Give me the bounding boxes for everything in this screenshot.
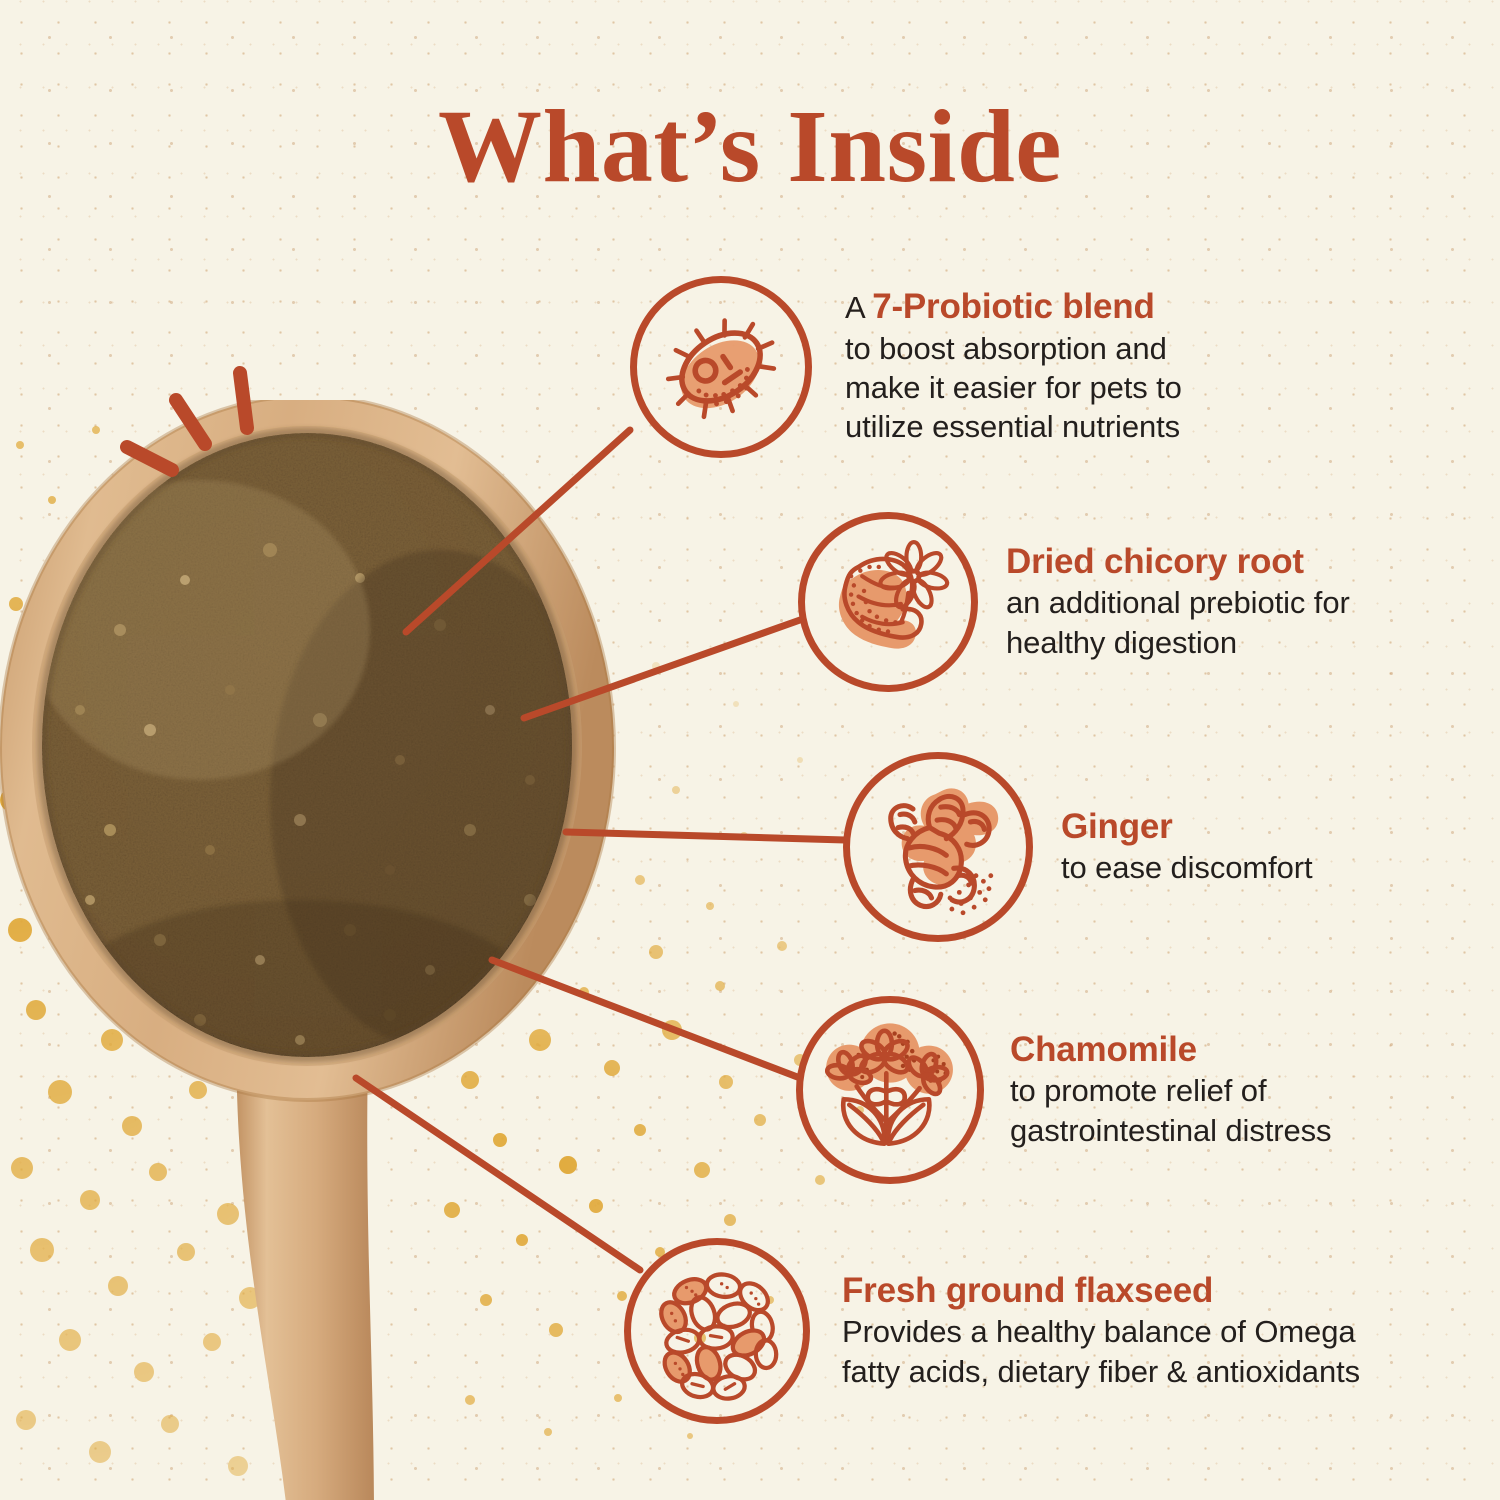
callout-body-chamomile: to promote relief of gastrointestinal di…	[1010, 1071, 1331, 1150]
callout-body-ginger: to ease discomfort	[1061, 848, 1312, 887]
callout-body-probiotic: to boost absorption and make it easier f…	[845, 329, 1182, 447]
flaxseed-icon	[624, 1238, 810, 1424]
callout-ginger[interactable]: Ginger to ease discomfort	[843, 752, 1312, 942]
ginger-root-icon	[843, 752, 1033, 942]
callout-title-chamomile: Chamomile	[1010, 1030, 1331, 1069]
callout-text-flaxseed: Fresh ground flaxseed Provides a healthy…	[842, 1271, 1360, 1391]
callout-body-flaxseed: Provides a healthy balance of Omega fatt…	[842, 1312, 1360, 1391]
infographic-canvas: What’s Inside	[0, 0, 1500, 1500]
bacteria-icon	[630, 276, 812, 458]
callout-title-probiotic: A 7-Probiotic blend	[845, 287, 1182, 326]
callout-probiotic[interactable]: A 7-Probiotic blend to boost absorption …	[630, 276, 1182, 458]
callout-text-probiotic: A 7-Probiotic blend to boost absorption …	[845, 287, 1182, 446]
callout-title-flaxseed: Fresh ground flaxseed	[842, 1271, 1360, 1310]
callout-chicory[interactable]: Dried chicory root an additional prebiot…	[798, 512, 1350, 692]
chicory-root-icon	[798, 512, 978, 692]
page-title: What’s Inside	[0, 92, 1500, 201]
callout-title-ginger: Ginger	[1061, 807, 1312, 846]
callout-title-main-probiotic: 7-Probiotic blend	[872, 287, 1154, 326]
callout-flaxseed[interactable]: Fresh ground flaxseed Provides a healthy…	[624, 1238, 1360, 1424]
callout-chamomile[interactable]: Chamomile to promote relief of gastroint…	[796, 996, 1331, 1184]
callout-text-chicory: Dried chicory root an additional prebiot…	[1006, 542, 1350, 662]
callout-text-ginger: Ginger to ease discomfort	[1061, 807, 1312, 888]
callout-body-chicory: an additional prebiotic for healthy dige…	[1006, 583, 1350, 662]
callout-lead-probiotic: A	[845, 290, 872, 325]
callout-title-chicory: Dried chicory root	[1006, 542, 1350, 581]
spoon-with-powder-image	[0, 400, 730, 1500]
callout-text-chamomile: Chamomile to promote relief of gastroint…	[1010, 1030, 1331, 1150]
chamomile-flower-icon	[796, 996, 984, 1184]
